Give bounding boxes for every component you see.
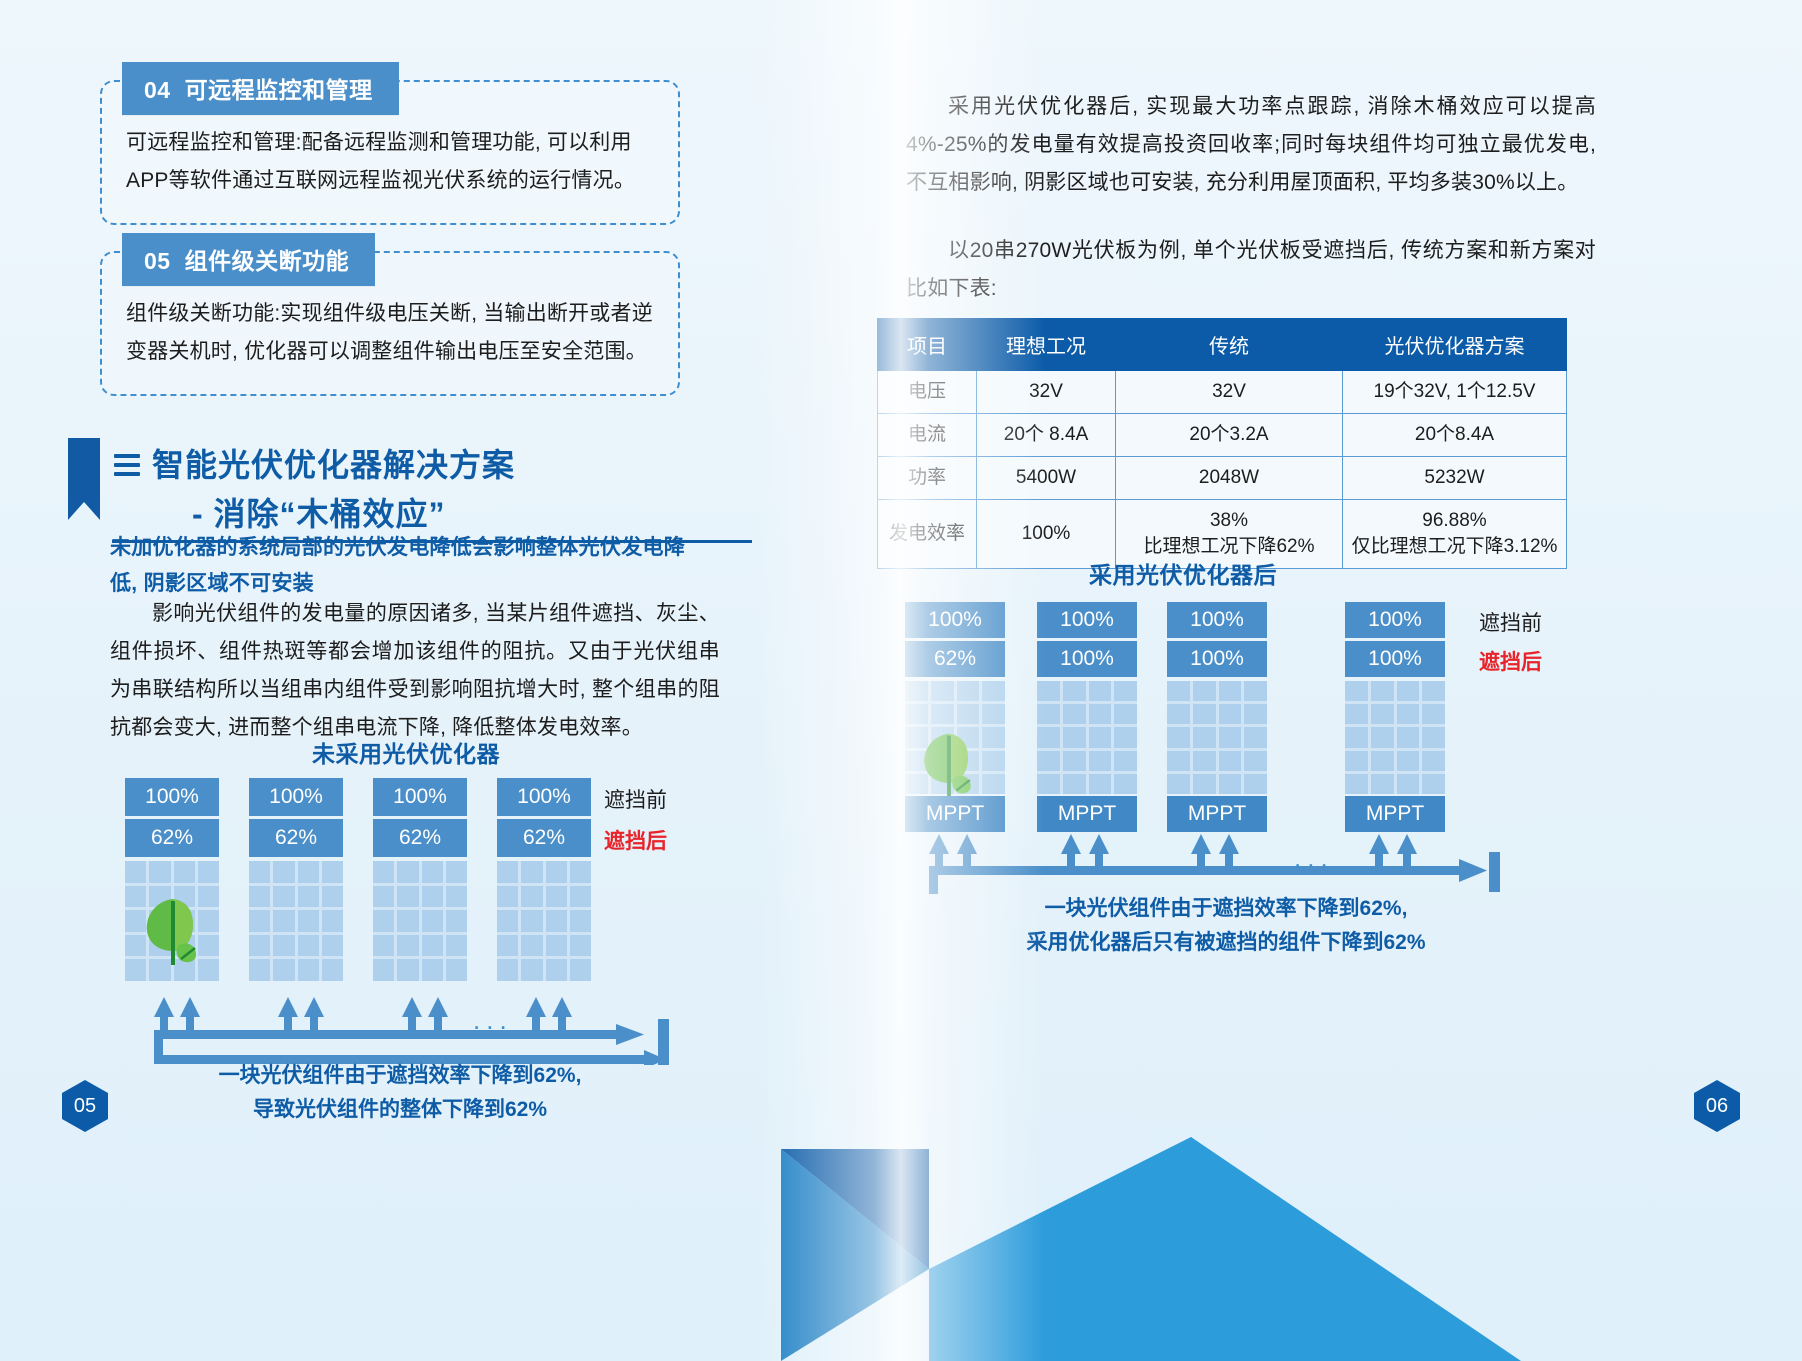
right-after-box-2: 100%	[1037, 641, 1137, 677]
mppt-box-3: MPPT	[1167, 796, 1267, 832]
left-before-box-3: 100%	[373, 778, 467, 816]
right-legend-after: 遮挡后	[1479, 646, 1542, 676]
comparison-table: 项目 理想工况 传统 光伏优化器方案 电压 32V 32V 19个32V, 1个…	[877, 318, 1567, 569]
left-caption-line2: 导致光伏组件的整体下降到62%	[150, 1093, 650, 1127]
leaf-icon	[913, 730, 985, 798]
card-04-text: 可远程监控和管理:配备远程监测和管理功能, 可以利用APP等软件通过互联网远程监…	[126, 124, 666, 200]
right-caption-line1: 一块光伏组件由于遮挡效率下降到62%,	[951, 892, 1501, 926]
left-ellipsis: ...	[473, 1005, 513, 1036]
card-05-number: 05	[144, 248, 171, 274]
cell-current-label: 电流	[878, 414, 977, 457]
right-paragraph-2: 以20串270W光伏板为例, 单个光伏板受遮挡后, 传统方案和新方案对比如下表:	[906, 232, 1596, 308]
section-title-line1: 智能光伏优化器解决方案	[152, 440, 515, 486]
table-row-current: 电流 20个 8.4A 20个3.2A 20个8.4A	[878, 414, 1567, 457]
left-solar-panel-4	[497, 861, 591, 981]
ribbon-flag-icon	[68, 438, 100, 520]
left-after-box-4: 62%	[497, 819, 591, 857]
right-legend-before: 遮挡前	[1479, 607, 1542, 637]
left-before-box-4: 100%	[497, 778, 591, 816]
cell-power-label: 功率	[878, 457, 977, 500]
left-caption-line1: 一块光伏组件由于遮挡效率下降到62%,	[150, 1059, 650, 1093]
cell-voltage-optimizer: 19个32V, 1个12.5V	[1343, 371, 1567, 414]
right-ellipsis: ...	[1294, 843, 1334, 874]
hamburger-icon	[114, 454, 140, 481]
th-item: 项目	[878, 319, 977, 371]
left-before-box-1: 100%	[125, 778, 219, 816]
left-legend-after: 遮挡后	[604, 825, 667, 855]
right-before-box-3: 100%	[1167, 602, 1267, 638]
right-solar-panel-2	[1037, 681, 1137, 794]
right-after-box-4: 100%	[1345, 641, 1445, 677]
cell-current-traditional: 20个3.2A	[1116, 414, 1343, 457]
left-legend-before: 遮挡前	[604, 784, 667, 814]
cell-current-optimizer: 20个8.4A	[1343, 414, 1567, 457]
cell-efficiency-optimizer: 96.88% 仅比理想工况下降3.12%	[1343, 500, 1567, 569]
right-after-box-1: 62%	[905, 641, 1005, 677]
feature-card-04: 04可远程监控和管理 可远程监控和管理:配备远程监测和管理功能, 可以利用APP…	[100, 62, 680, 222]
feature-card-05: 05组件级关断功能 组件级关断功能:实现组件级电压关断, 当输出断开或者逆变器关…	[100, 233, 680, 393]
mppt-box-1: MPPT	[905, 796, 1005, 832]
card-05-header: 05组件级关断功能	[122, 233, 375, 286]
left-before-box-2: 100%	[249, 778, 343, 816]
cell-efficiency-optimizer-note: 仅比理想工况下降3.12%	[1349, 534, 1560, 560]
right-before-box-2: 100%	[1037, 602, 1137, 638]
card-04-header: 04可远程监控和管理	[122, 62, 399, 115]
brochure-spread: 04可远程监控和管理 可远程监控和管理:配备远程监测和管理功能, 可以利用APP…	[0, 0, 1802, 1361]
cell-power-optimizer: 5232W	[1343, 457, 1567, 500]
right-before-box-4: 100%	[1345, 602, 1445, 638]
right-wiring-diagram	[901, 828, 1521, 900]
right-solar-panel-3	[1167, 681, 1267, 794]
card-04-number: 04	[144, 77, 171, 103]
table-header-row: 项目 理想工况 传统 光伏优化器方案	[878, 319, 1567, 371]
left-diagram-title: 未采用光伏优化器	[312, 735, 500, 769]
leaf-icon	[135, 895, 211, 967]
mppt-box-4: MPPT	[1345, 796, 1445, 832]
table-row-power: 功率 5400W 2048W 5232W	[878, 457, 1567, 500]
left-after-box-2: 62%	[249, 819, 343, 857]
decorative-mountain-shape	[781, 1091, 1801, 1361]
left-wiring-diagram	[110, 975, 680, 1065]
left-diagram-caption: 一块光伏组件由于遮挡效率下降到62%, 导致光伏组件的整体下降到62%	[150, 1059, 650, 1127]
cell-efficiency-label: 发电效率	[878, 500, 977, 569]
left-page: 04可远程监控和管理 可远程监控和管理:配备远程监测和管理功能, 可以利用APP…	[0, 0, 901, 1361]
mppt-box-2: MPPT	[1037, 796, 1137, 832]
right-diagram-title: 采用光伏优化器后	[1089, 556, 1277, 590]
card-05-text: 组件级关断功能:实现组件级电压关断, 当输出断开或者逆变器关机时, 优化器可以调…	[126, 295, 666, 371]
card-04-title: 可远程监控和管理	[185, 77, 373, 103]
right-page: 采用光伏优化器后, 实现最大功率点跟踪, 消除木桶效应可以提高4%-25%的发电…	[901, 0, 1802, 1361]
section-paragraph: 影响光伏组件的发电量的原因诸多, 当某片组件遮挡、灰尘、组件损坏、组件热斑等都会…	[110, 595, 720, 747]
cell-voltage-ideal: 32V	[977, 371, 1116, 414]
right-paragraph-1: 采用光伏优化器后, 实现最大功率点跟踪, 消除木桶效应可以提高4%-25%的发电…	[906, 88, 1596, 202]
section-lead: 未加优化器的系统局部的光伏发电降低会影响整体光伏发电降低, 阴影区域不可安装	[110, 530, 700, 602]
cell-voltage-label: 电压	[878, 371, 977, 414]
th-optimizer: 光伏优化器方案	[1343, 319, 1567, 371]
page-number-left: 05	[62, 1080, 108, 1132]
cell-power-ideal: 5400W	[977, 457, 1116, 500]
th-ideal: 理想工况	[977, 319, 1116, 371]
th-traditional: 传统	[1116, 319, 1343, 371]
section-title-line2: - 消除“木桶效应”	[192, 489, 446, 535]
left-after-box-1: 62%	[125, 819, 219, 857]
table-row-voltage: 电压 32V 32V 19个32V, 1个12.5V	[878, 371, 1567, 414]
cell-efficiency-optimizer-value: 96.88%	[1349, 508, 1560, 534]
right-diagram-caption: 一块光伏组件由于遮挡效率下降到62%, 采用优化器后只有被遮挡的组件下降到62%	[951, 892, 1501, 960]
right-solar-panel-4	[1345, 681, 1445, 794]
right-after-box-3: 100%	[1167, 641, 1267, 677]
cell-power-traditional: 2048W	[1116, 457, 1343, 500]
cell-efficiency-traditional-value: 38%	[1122, 508, 1336, 534]
right-caption-line2: 采用优化器后只有被遮挡的组件下降到62%	[951, 926, 1501, 960]
cell-current-ideal: 20个 8.4A	[977, 414, 1116, 457]
left-solar-panel-3	[373, 861, 467, 981]
cell-voltage-traditional: 32V	[1116, 371, 1343, 414]
card-05-title: 组件级关断功能	[185, 248, 350, 274]
right-before-box-1: 100%	[905, 602, 1005, 638]
left-after-box-3: 62%	[373, 819, 467, 857]
left-solar-panel-2	[249, 861, 343, 981]
